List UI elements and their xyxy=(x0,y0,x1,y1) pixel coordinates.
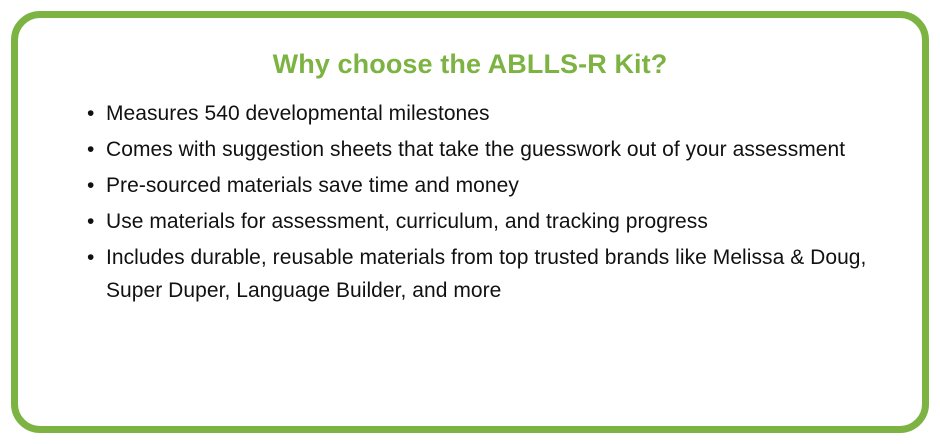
list-item-label: Comes with suggestion sheets that take t… xyxy=(106,133,898,166)
bullet-icon: • xyxy=(87,133,94,166)
list-item: • Includes durable, reusable materials f… xyxy=(81,241,898,307)
list-item: • Pre-sourced materials save time and mo… xyxy=(81,169,898,202)
list-item-label: Pre-sourced materials save time and mone… xyxy=(106,169,898,202)
list-item-label: Measures 540 developmental milestones xyxy=(106,97,898,130)
bullet-icon: • xyxy=(87,241,94,274)
bullet-icon: • xyxy=(87,97,94,130)
bullet-icon: • xyxy=(87,169,94,202)
list-item-label: Includes durable, reusable materials fro… xyxy=(106,241,898,307)
list-item: • Comes with suggestion sheets that take… xyxy=(81,133,898,166)
info-card: Why choose the ABLLS-R Kit? • Measures 5… xyxy=(11,11,929,433)
list-item: • Use materials for assessment, curricul… xyxy=(81,205,898,238)
bullet-icon: • xyxy=(87,205,94,238)
list-item: • Measures 540 developmental milestones xyxy=(81,97,898,130)
list-item-label: Use materials for assessment, curriculum… xyxy=(106,205,898,238)
page-title: Why choose the ABLLS-R Kit? xyxy=(18,50,922,80)
benefits-list: • Measures 540 developmental milestones … xyxy=(81,97,898,307)
